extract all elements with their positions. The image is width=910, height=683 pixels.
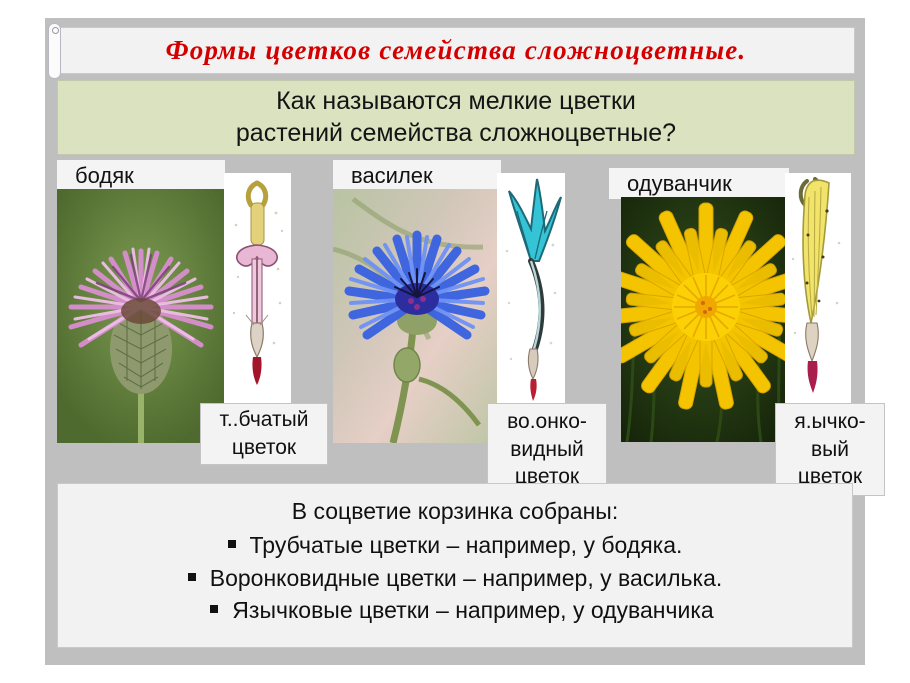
caption-tubular-line-1: т..бчатый (220, 406, 309, 434)
caption-tubular-line-2: цветок (232, 434, 296, 462)
slide-canvas: Формы цветков семейства сложноцветные. К… (45, 18, 865, 665)
summary-list-item: Язычковые цветки – например, у одуванчик… (58, 594, 852, 627)
tubular-floret-diagram (224, 173, 291, 413)
title-placeholder[interactable]: Формы цветков семейства сложноцветные. (57, 27, 855, 74)
ligulate-floret-diagram (785, 173, 851, 413)
placeholder-resize-handle[interactable] (48, 23, 61, 79)
label-oduvanchik: одуванчик (609, 168, 789, 199)
summary-item-text: Язычковые цветки – например, у одуванчик… (232, 594, 713, 627)
question-line-2: растений семейства сложноцветные? (236, 118, 676, 150)
summary-panel[interactable]: В соцветие корзинка собраны: Трубчатые ц… (57, 483, 853, 648)
page-title: Формы цветков семейства сложноцветные. (166, 35, 747, 66)
label-vasilek: василек (333, 160, 501, 191)
summary-item-text: Воронковидные цветки – например, у васил… (210, 562, 723, 595)
photo-strip: бодяк василек одуванчик (57, 160, 853, 480)
question-panel: Как называются мелкие цветки растений се… (57, 80, 855, 155)
dandelion-photo (621, 197, 789, 442)
caption-funnel-line-2: видный (510, 436, 584, 464)
funnel-floret-diagram (497, 173, 565, 413)
summary-list-item: Воронковидные цветки – например, у васил… (58, 562, 852, 595)
caption-ligulate-line-2: вый (811, 436, 849, 464)
bullet-square-icon (188, 573, 196, 581)
caption-funnel-line-1: во.онко- (507, 408, 587, 436)
caption-tubular-flower: т..бчатый цветок (200, 403, 328, 465)
label-bodyak: бодяк (57, 160, 225, 191)
summary-item-text: Трубчатые цветки – например, у бодяка. (250, 529, 683, 562)
bullet-square-icon (228, 540, 236, 548)
question-line-1: Как называются мелкие цветки (276, 86, 636, 118)
cornflower-photo (333, 189, 502, 443)
summary-heading: В соцветие корзинка собраны: (58, 498, 852, 525)
bullet-square-icon (210, 605, 218, 613)
summary-list-item: Трубчатые цветки – например, у бодяка. (58, 529, 852, 562)
caption-ligulate-line-1: я.ычко- (794, 408, 865, 436)
